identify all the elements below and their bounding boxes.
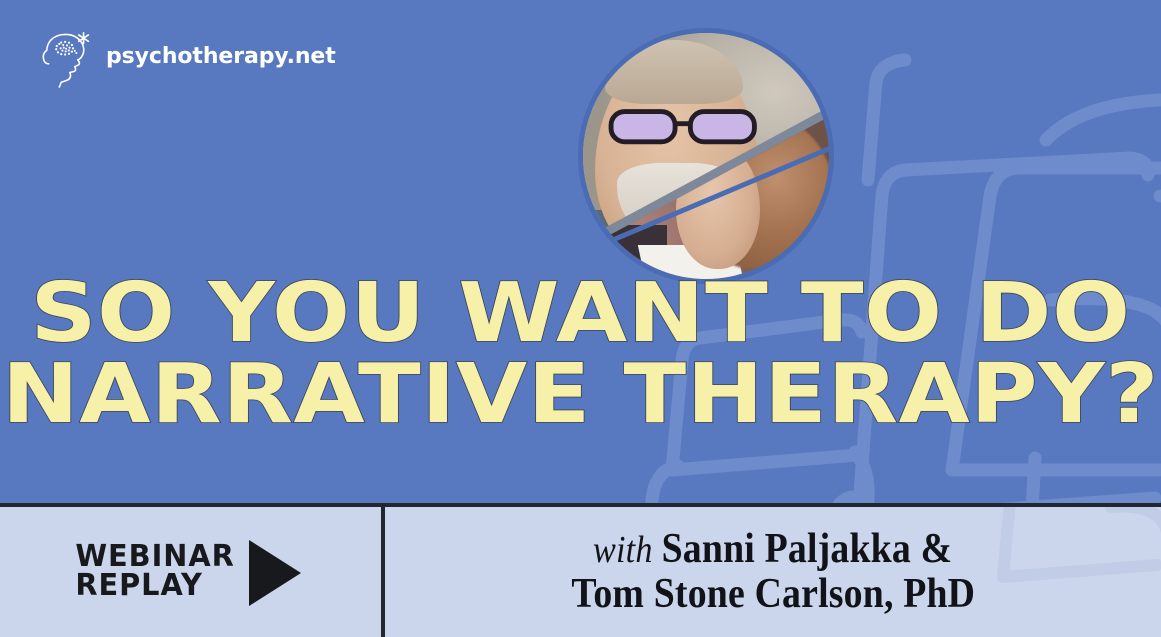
presenters-block: withSanni Paljakka & Tom Stone Carlson, …: [385, 507, 1161, 637]
brand-name: psychotherapy.net: [106, 46, 336, 70]
with-label: with: [593, 529, 653, 571]
title-line-2: NARRATIVE THERAPY?: [0, 357, 1161, 432]
webinar-replay-badge[interactable]: WEBINAR REPLAY: [0, 507, 385, 637]
presenter-line-1: withSanni Paljakka &: [593, 527, 952, 572]
play-triangle-icon[interactable]: [249, 540, 301, 606]
webinar-replay-label: WEBINAR REPLAY: [76, 543, 235, 601]
page-title: SO YOU WANT TO DO NARRATIVE THERAPY?: [0, 276, 1161, 433]
dual-presenter-portrait: [578, 28, 834, 284]
bottom-bar: WEBINAR REPLAY withSanni Paljakka & Tom …: [0, 503, 1161, 637]
head-profile-brain-spiral-icon: [38, 27, 100, 89]
badge-line-2: REPLAY: [76, 572, 235, 601]
presenter-line-2: Tom Stone Carlson, PhD: [571, 572, 975, 617]
webinar-replay-poster: psychotherapy.net: [0, 0, 1161, 637]
brand-logo[interactable]: psychotherapy.net: [38, 28, 336, 88]
asterisk-icon: [79, 33, 89, 44]
presenter-name-1: Sanni Paljakka &: [662, 526, 953, 572]
title-line-1: SO YOU WANT TO DO: [0, 276, 1161, 351]
eyeglasses-icon: [608, 107, 761, 146]
